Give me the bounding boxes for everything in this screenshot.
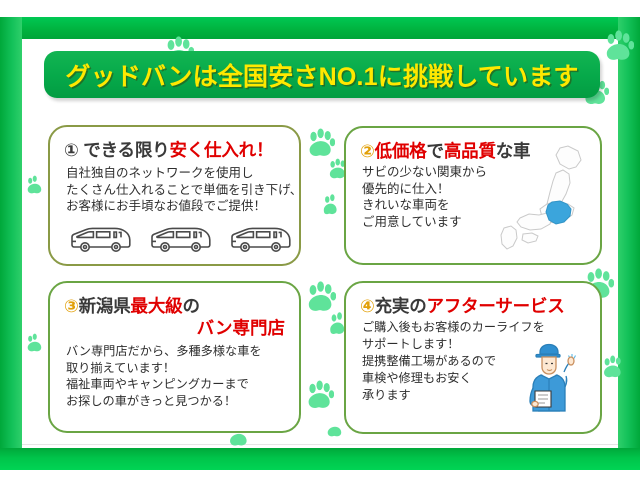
paw-print-icon [602, 352, 624, 382]
paw-print-icon [326, 422, 344, 440]
feature-box-4-body: ご購入後もお客様のカーライフを サポートします！ 提携整備工場があるので 車検や… [362, 319, 545, 404]
feature-box-1: ① できる限り安く仕入れ！ 自社独自のネットワークを使用し たくさん仕入れること… [48, 125, 301, 266]
feature-title-accent-2a: 低価格 [375, 141, 427, 161]
frame-bottom-bar [0, 448, 640, 470]
feature-box-1-body: 自社独自のネットワークを使用し たくさん仕入れることで単価を引き下げ、 お客様に… [66, 165, 302, 215]
mechanic-illustration [524, 338, 586, 421]
content-bottom-rule [22, 444, 618, 445]
van-icon [228, 223, 292, 255]
headline-banner: グッドバンは全国安さNO.1に挑戦しています [44, 51, 600, 98]
feature-box-2-body: サビの少ない関東から 優先的に仕入！ きれいな車両を ご用意しています [362, 164, 487, 230]
frame-left-bar [0, 17, 22, 470]
frame-right-bar [618, 17, 640, 470]
japan-map-illustration [490, 142, 594, 265]
body-line: 福祉車両やキャンピングカーまで [66, 376, 262, 393]
body-line: お客様にお手頃なお値段でご提供！ [66, 198, 302, 215]
feature-title-accent-4: アフターサービス [427, 296, 565, 316]
van-icon [68, 223, 132, 255]
body-line: 承ります [362, 387, 545, 404]
paw-print-icon [26, 330, 44, 356]
feature-box-3: ③新潟県最大級の バン専門店 バン専門店だから、多種多様な車を 取り揃えています… [48, 281, 301, 433]
paw-print-icon [604, 30, 634, 62]
feature-box-4-title: ④充実のアフターサービス [360, 293, 592, 318]
feature-title-tail-3: の [182, 296, 199, 316]
feature-number-3: ③ [64, 296, 79, 316]
body-line: ご購入後もお客様のカーライフを [362, 319, 545, 336]
body-line: きれいな車両を [362, 197, 487, 214]
feature-title-accent-3: 最大級 [131, 296, 183, 316]
body-line: 取り揃えています！ [66, 360, 262, 377]
headline-text: グッドバンは全国安さNO.1に挑戦しています [65, 57, 578, 93]
kanto-highlight-region [546, 201, 571, 224]
body-line: 提携整備工場があるので [362, 353, 545, 370]
body-line: 自社独自のネットワークを使用し [66, 165, 302, 182]
feature-title-plain-3: 新潟県 [79, 296, 131, 316]
van-icon [148, 223, 212, 255]
paw-print-icon [26, 172, 44, 198]
feature-box-1-title: ① できる限り安く仕入れ！ [64, 137, 291, 162]
body-line: 車検や修理もお安く [362, 370, 545, 387]
frame-top-bar [0, 17, 640, 39]
feature-box-3-body: バン専門店だから、多種多様な車を 取り揃えています！ 福祉車両やキャンピングカー… [66, 343, 262, 409]
feature-number-4: ④ [360, 296, 375, 316]
feature-number-2: ② [360, 141, 375, 161]
paw-print-icon [323, 194, 337, 216]
body-line: サポートします！ [362, 336, 545, 353]
feature-title-mid-2: で [427, 141, 444, 161]
paw-print-icon [306, 281, 336, 313]
feature-box-4: ④充実のアフターサービス ご購入後もお客様のカーライフを サポートします！ 提携… [344, 281, 602, 434]
van-illustration-group [68, 223, 292, 255]
body-line: サビの少ない関東から [362, 164, 487, 181]
feature-box-2: ②低価格で高品質な車 サビの少ない関東から 優先的に仕入！ きれいな車両を ご用… [344, 126, 602, 265]
paw-print-icon [306, 380, 334, 410]
body-line: ご用意しています [362, 214, 487, 231]
body-line: たくさん仕入れることで単価を引き下げ、 [66, 182, 302, 199]
feature-title-plain-4: 充実の [375, 296, 427, 316]
paw-print-icon [307, 128, 335, 158]
paw-print-icon [329, 312, 345, 336]
feature-title-accent-1: 安く仕入れ！ [169, 140, 273, 160]
advertisement-banner: グッドバンは全国安さNO.1に挑戦しています ① できる限り安く仕入れ！ 自社独… [0, 0, 640, 480]
feature-title-plain-1: できる限り [83, 140, 169, 160]
body-line: お探しの車がきっと見つかる！ [66, 393, 262, 410]
feature-box-3-title-line2: バン専門店 [64, 315, 285, 340]
feature-title-accent-2b: 高品質 [444, 141, 496, 161]
body-line: バン専門店だから、多種多様な車を [66, 343, 262, 360]
feature-number-1: ① [64, 140, 79, 160]
body-line: 優先的に仕入！ [362, 181, 487, 198]
